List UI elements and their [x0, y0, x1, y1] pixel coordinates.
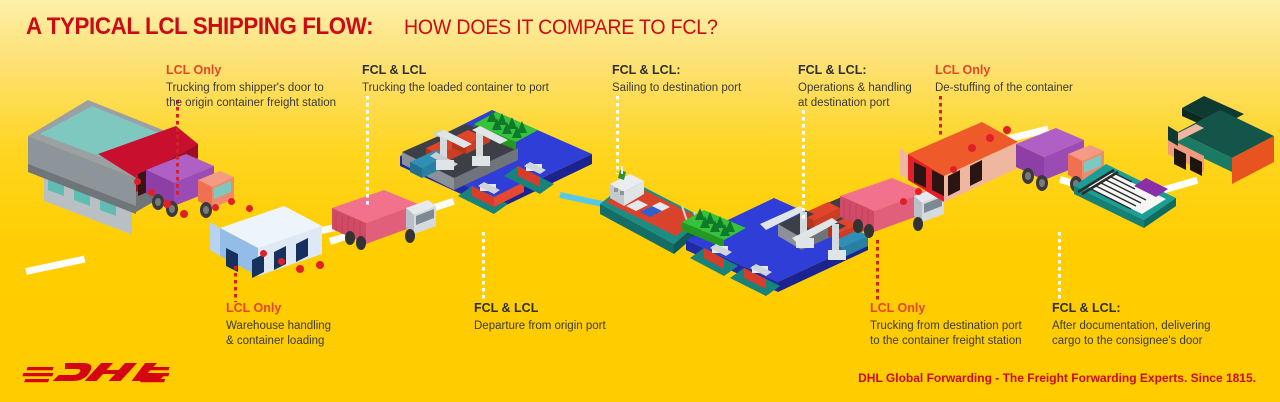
annotation-line: Operations & handling	[798, 81, 912, 96]
route-dot	[900, 198, 907, 205]
route-dot	[228, 198, 235, 205]
annotation-trucking-to-port: FCL & LCL Trucking the loaded container …	[362, 62, 549, 96]
annotation-line: Warehouse handling	[226, 319, 331, 334]
annotation-line: Trucking from shipper's door to	[166, 81, 336, 96]
footer-tagline: DHL Global Forwarding - The Freight Forw…	[858, 371, 1256, 385]
annotation-heading: LCL Only	[935, 62, 1073, 78]
annotation-destination-operations: FCL & LCL: Operations & handling at dest…	[798, 62, 912, 110]
annotation-heading: FCL & LCL:	[1052, 300, 1211, 316]
annotation-heading: LCL Only	[166, 62, 336, 78]
leader-line-departure-port	[482, 232, 485, 300]
leader-line-shipper-door	[176, 100, 179, 196]
annotation-heading: FCL & LCL	[362, 62, 549, 78]
route-dot	[950, 166, 957, 173]
route-dot	[968, 144, 976, 152]
annotation-shipper-door-trucking: LCL Only Trucking from shipper's door to…	[166, 62, 336, 110]
road-segment-3	[25, 256, 85, 275]
route-dot	[180, 210, 188, 218]
annotation-heading: FCL & LCL	[474, 300, 606, 316]
annotation-trucking-from-destination: LCL Only Trucking from destination port …	[870, 300, 1022, 348]
leader-line-warehouse-handling	[234, 266, 237, 302]
annotation-heading: FCL & LCL:	[612, 62, 741, 78]
leader-line-trucking-to-port	[366, 96, 369, 208]
route-dot	[1003, 126, 1011, 134]
route-dot	[915, 188, 922, 195]
origin-port	[396, 108, 596, 243]
annotation-heading: FCL & LCL:	[798, 62, 912, 78]
route-dot	[278, 258, 285, 265]
leader-line-trucking-destination	[876, 240, 879, 302]
title-subtitle-text: HOW DOES IT COMPARE TO FCL?	[404, 16, 718, 40]
annotation-line: cargo to the consignee's door	[1052, 334, 1211, 349]
annotation-sailing: FCL & LCL: Sailing to destination port	[612, 62, 741, 96]
annotation-line: Sailing to destination port	[612, 81, 741, 96]
origin-cfs-warehouse	[196, 204, 326, 294]
route-dot	[148, 189, 155, 196]
annotation-line: Trucking the loaded container to port	[362, 81, 549, 96]
annotation-line: De-stuffing of the container	[935, 81, 1073, 96]
annotation-line: Departure from origin port	[474, 319, 606, 334]
consignee-building	[1148, 96, 1280, 206]
route-dot	[246, 205, 253, 212]
annotation-departure-origin-port: FCL & LCL Departure from origin port	[474, 300, 606, 334]
annotation-line: the origin container freight station	[166, 96, 336, 111]
annotation-line: & container loading	[226, 334, 331, 349]
dhl-logo	[30, 355, 180, 391]
leader-line-sailing	[616, 96, 619, 174]
leader-line-destination-ops	[802, 110, 805, 220]
infographic-canvas: A TYPICAL LCL SHIPPING FLOW:HOW DOES IT …	[0, 0, 1280, 402]
annotation-de-stuffing: LCL Only De-stuffing of the container	[935, 62, 1073, 96]
route-dot	[316, 261, 324, 269]
annotation-line: to the container freight station	[870, 334, 1022, 349]
annotation-heading: LCL Only	[226, 300, 331, 316]
annotation-warehouse-handling: LCL Only Warehouse handling & container …	[226, 300, 331, 348]
annotation-line: Trucking from destination port	[870, 319, 1022, 334]
page-title: A TYPICAL LCL SHIPPING FLOW:HOW DOES IT …	[26, 13, 742, 41]
route-dot	[134, 178, 141, 185]
route-dot	[163, 200, 171, 208]
route-dot	[986, 134, 994, 142]
leader-line-final-delivery	[1058, 232, 1061, 300]
route-dot	[212, 204, 219, 211]
annotation-heading: LCL Only	[870, 300, 1022, 316]
route-dot	[260, 250, 267, 257]
leader-line-de-stuffing	[939, 96, 942, 136]
annotation-line: at destination port	[798, 96, 912, 111]
annotation-line: After documentation, delivering	[1052, 319, 1211, 334]
route-dot	[296, 265, 304, 273]
annotation-final-delivery: FCL & LCL: After documentation, deliveri…	[1052, 300, 1211, 348]
title-main-text: A TYPICAL LCL SHIPPING FLOW:	[26, 13, 373, 41]
